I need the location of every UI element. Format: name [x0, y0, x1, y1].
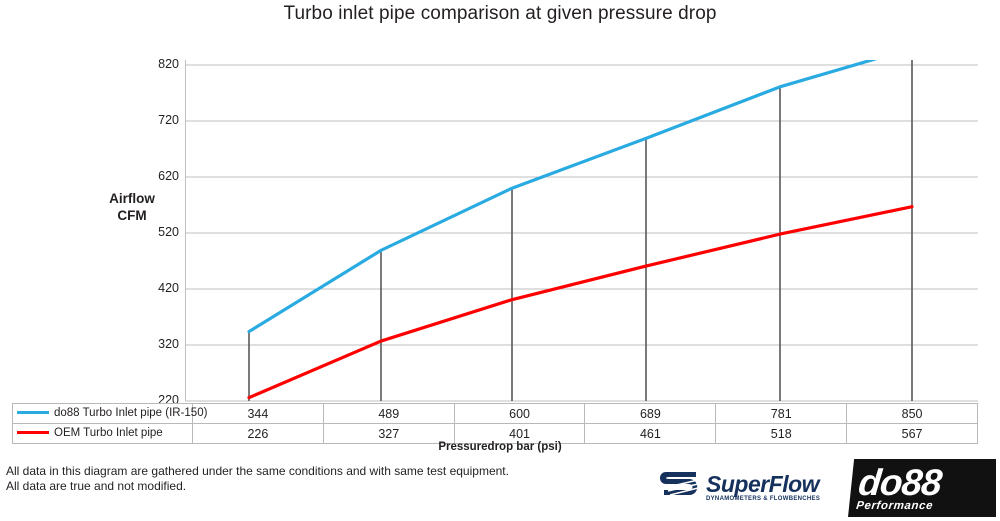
y-axis-title: Airflow CFM — [82, 190, 182, 224]
logo-strip: SuperFlow DYNAMOMETERS & FLOWBENCHES do8… — [658, 457, 996, 519]
y-axis-title-line1: Airflow — [82, 190, 182, 207]
plot-area — [185, 60, 978, 402]
y-tick-520: 520 — [133, 225, 179, 239]
do88-subtitle: Performance — [855, 500, 986, 513]
do88-name: do88 — [857, 465, 991, 501]
y-tick-320: 320 — [133, 337, 179, 351]
chart-title: Turbo inlet pipe comparison at given pre… — [0, 3, 1000, 25]
series-line-1 — [249, 60, 912, 332]
table-cell-r1-c5: 781 — [716, 404, 847, 424]
superflow-tagline: DYNAMOMETERS & FLOWBENCHES — [706, 495, 820, 503]
superflow-wordmark: SuperFlow DYNAMOMETERS & FLOWBENCHES — [706, 473, 820, 503]
legend-swatch-red — [17, 431, 49, 434]
chart-page: Turbo inlet pipe comparison at given pre… — [0, 0, 1000, 521]
y-tick-620: 620 — [133, 169, 179, 183]
y-tick-820: 820 — [133, 57, 179, 71]
superflow-swoosh-icon — [658, 466, 702, 510]
chart-svg — [185, 60, 978, 402]
do88-logo: do88 Performance — [848, 459, 996, 517]
footnote-line-1: All data in this diagram are gathered un… — [6, 464, 509, 479]
legend-label: do88 Turbo Inlet pipe (IR-150) — [54, 407, 207, 419]
y-axis-title-line2: CFM — [82, 207, 182, 224]
table-cell-r1-c6: 850 — [847, 404, 978, 424]
table-cell-r1-c4: 689 — [585, 404, 716, 424]
series-line-2 — [249, 207, 912, 398]
legend-swatch-blue — [17, 411, 49, 414]
legend-cell-1: do88 Turbo Inlet pipe (IR-150) — [13, 404, 193, 424]
legend-label: OEM Turbo Inlet pipe — [54, 427, 163, 439]
footnote: All data in this diagram are gathered un… — [6, 464, 509, 494]
x-axis-title: Pressuredrop bar (psi) — [0, 441, 1000, 453]
table-cell-r1-c3: 600 — [454, 404, 585, 424]
superflow-name: SuperFlow — [706, 473, 820, 495]
table-cell-r1-c2: 489 — [323, 404, 454, 424]
superflow-logo: SuperFlow DYNAMOMETERS & FLOWBENCHES — [658, 464, 830, 512]
y-tick-720: 720 — [133, 113, 179, 127]
table-cell-r1-c1: 344 — [193, 404, 324, 424]
do88-wordmark: do88 Performance — [856, 465, 991, 512]
footnote-line-2: All data are true and not modified. — [6, 479, 509, 494]
data-table: do88 Turbo Inlet pipe (IR-150)3444896006… — [12, 403, 978, 444]
table-row: do88 Turbo Inlet pipe (IR-150)3444896006… — [13, 404, 978, 424]
y-tick-420: 420 — [133, 281, 179, 295]
